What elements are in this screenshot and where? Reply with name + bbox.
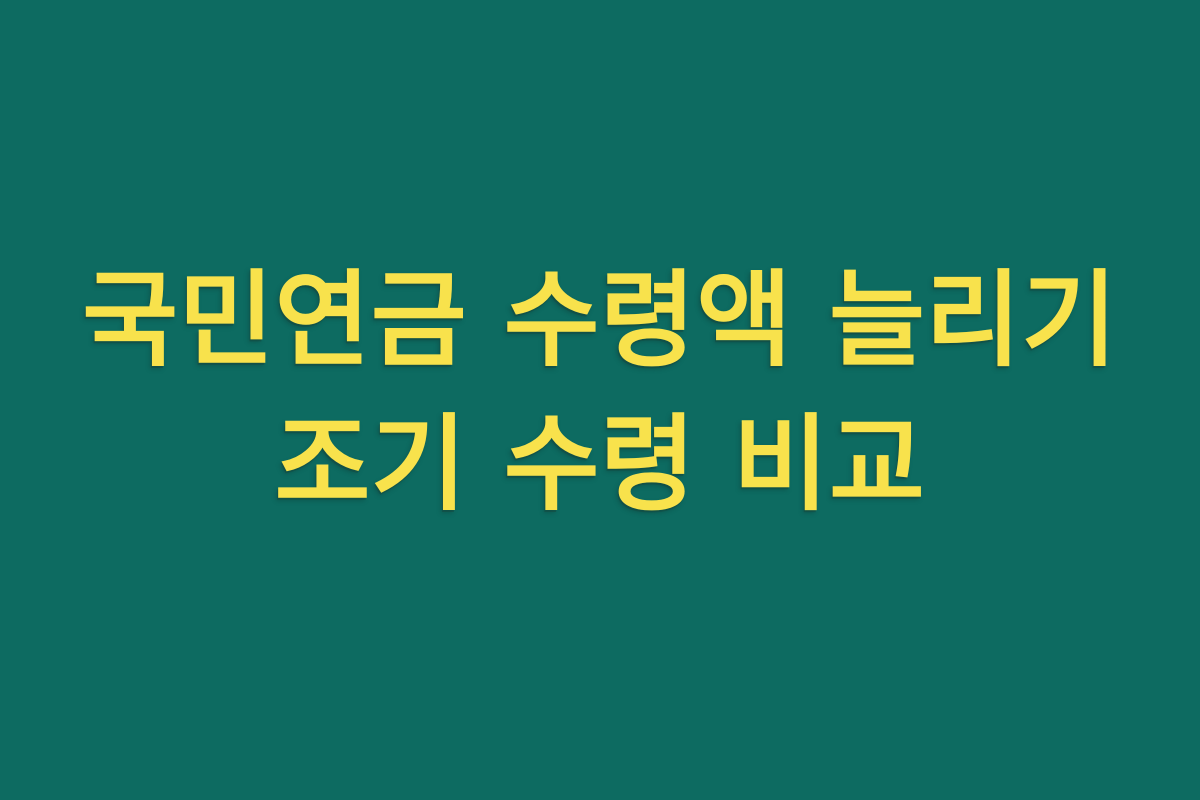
title-line-primary: 국민연금 수령액 늘리기 <box>0 249 1200 393</box>
page-title: 국민연금 수령액 늘리기 조기 수령 비교 <box>0 249 1200 536</box>
title-banner: 국민연금 수령액 늘리기 조기 수령 비교 <box>0 0 1200 800</box>
title-line-secondary: 조기 수령 비교 <box>0 393 1200 537</box>
